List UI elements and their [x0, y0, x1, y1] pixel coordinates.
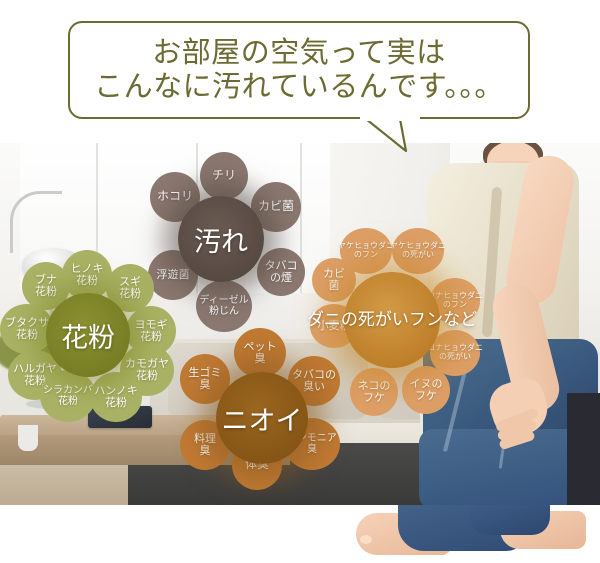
cluster-core-odor[interactable]: ニオイ	[216, 372, 308, 464]
bubble-pet-shuu[interactable]: ペット臭	[234, 328, 286, 378]
core-label: ニオイ	[222, 399, 303, 438]
speech-bubble-line-2: こんなに汚れているんです。。。	[94, 70, 504, 104]
bubble-diesel-funjin[interactable]: ディーゼル粉じん	[196, 280, 252, 332]
bubble-label: カビ菌	[258, 200, 294, 213]
speech-bubble-line-1: お部屋の空気って実は	[152, 36, 446, 70]
floor-lamp-arm	[10, 191, 62, 253]
bubble-inu-fuke[interactable]: イヌのフケ	[402, 366, 450, 414]
bubble-label: 生ゴミ臭	[189, 367, 222, 392]
photo-lower-strip	[0, 505, 600, 563]
bubble-label: ヒノキ花粉	[71, 263, 104, 288]
toe	[360, 535, 372, 544]
bubble-shirakanba-kafun[interactable]: シラカンバ花粉	[40, 370, 96, 422]
bubble-label: スギ花粉	[119, 276, 141, 301]
bubble-chiri[interactable]: チリ	[200, 152, 248, 200]
bubble-label: ハンノキ花粉	[94, 385, 137, 410]
bubble-tabako-kemuri[interactable]: タバコの煙	[257, 248, 305, 296]
cluster-core-dirt[interactable]: 汚れ	[178, 196, 264, 282]
bubble-neko-fuke[interactable]: ネコのフケ	[350, 368, 398, 416]
bubble-label: ペット臭	[244, 341, 277, 366]
bubble-label: シラカンバ花粉	[43, 385, 93, 407]
bubble-label: ヨモギ花粉	[135, 319, 168, 344]
bubble-label: タバコの煙	[265, 260, 298, 285]
bubble-label: ディーゼル粉じん	[199, 295, 248, 317]
bubble-label: ネコのフケ	[358, 380, 391, 405]
bubble-label: ヤケヒョウダニのフン	[338, 242, 394, 260]
core-label: ダニの死がいフンなど	[307, 309, 477, 331]
bubble-label: 浮遊菌	[157, 269, 190, 281]
bubble-label: ブナ花粉	[35, 274, 57, 299]
dark-shadow	[567, 393, 600, 505]
bubble-hannoki-kafun[interactable]: ハンノキ花粉	[90, 372, 142, 422]
bubble-label: ヤケヒョウダニの死がい	[390, 242, 446, 260]
bubble-label: ホコリ	[157, 190, 193, 203]
bubble-yakehyoudani-shigai[interactable]: ヤケヒョウダニの死がい	[392, 228, 444, 274]
bubble-label: コナヒョウダニの死がい	[427, 344, 483, 362]
bubble-label: カビ菌	[323, 268, 345, 293]
core-label: 汚れ	[194, 220, 248, 259]
core-label: 花粉	[61, 316, 115, 355]
cluster-core-pollen[interactable]: 花粉	[46, 293, 130, 377]
bubble-label: ブタクサ花粉	[5, 317, 49, 342]
speech-bubble: お部屋の空気って実は こんなに汚れているんです。。。	[68, 21, 530, 119]
speech-bubble-tail	[360, 117, 420, 153]
bubble-label: イヌのフケ	[410, 378, 443, 403]
vase	[18, 425, 38, 451]
bubble-label: チリ	[212, 169, 236, 182]
cluster-core-mite[interactable]: ダニの死がいフンなど	[344, 272, 440, 368]
jeans-cuff	[470, 505, 550, 535]
bubble-label: 料理臭	[194, 433, 216, 458]
